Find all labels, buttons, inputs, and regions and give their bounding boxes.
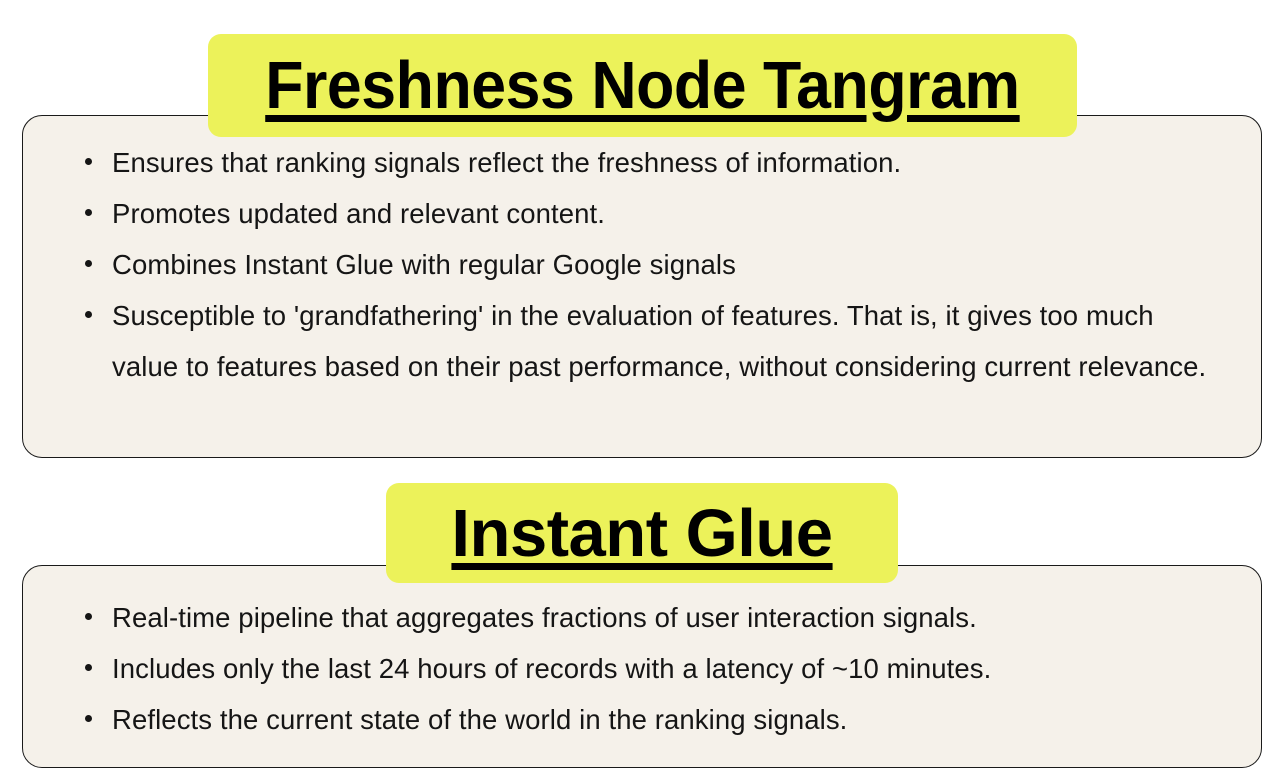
list-item: Promotes updated and relevant content. [69, 188, 1227, 239]
slide-root: Ensures that ranking signals reflect the… [0, 0, 1282, 784]
bullet-dot-icon [85, 664, 92, 671]
list-item: Ensures that ranking signals reflect the… [69, 137, 1227, 188]
instant-glue-title-badge: Instant Glue [386, 483, 898, 583]
list-item-text: Includes only the last 24 hours of recor… [112, 653, 991, 684]
list-item-text: Combines Instant Glue with regular Googl… [112, 249, 736, 280]
list-item-text: Promotes updated and relevant content. [112, 198, 605, 229]
list-item-text: Real-time pipeline that aggregates fract… [112, 602, 977, 633]
freshness-node-tangram-title-badge: Freshness Node Tangram [208, 34, 1077, 137]
freshness-node-tangram-card: Ensures that ranking signals reflect the… [22, 115, 1262, 458]
section-title: Instant Glue [451, 500, 832, 567]
list-item: Combines Instant Glue with regular Googl… [69, 239, 1227, 290]
bullet-dot-icon [85, 311, 92, 318]
bullet-dot-icon [85, 715, 92, 722]
bullet-dot-icon [85, 209, 92, 216]
list-item: Includes only the last 24 hours of recor… [69, 643, 1227, 694]
bullet-dot-icon [85, 613, 92, 620]
list-item-text: Ensures that ranking signals reflect the… [112, 147, 901, 178]
list-item-text: Susceptible to 'grandfathering' in the e… [112, 300, 1206, 382]
instant-glue-card: Real-time pipeline that aggregates fract… [22, 565, 1262, 768]
freshness-node-tangram-bullet-list: Ensures that ranking signals reflect the… [69, 137, 1227, 392]
list-item: Reflects the current state of the world … [69, 694, 1227, 745]
instant-glue-bullet-list: Real-time pipeline that aggregates fract… [69, 592, 1227, 745]
bullet-dot-icon [85, 260, 92, 267]
list-item-text: Reflects the current state of the world … [112, 704, 847, 735]
bullet-dot-icon [85, 158, 92, 165]
page-title: Freshness Node Tangram [265, 52, 1019, 119]
list-item: Real-time pipeline that aggregates fract… [69, 592, 1227, 643]
list-item: Susceptible to 'grandfathering' in the e… [69, 290, 1227, 392]
